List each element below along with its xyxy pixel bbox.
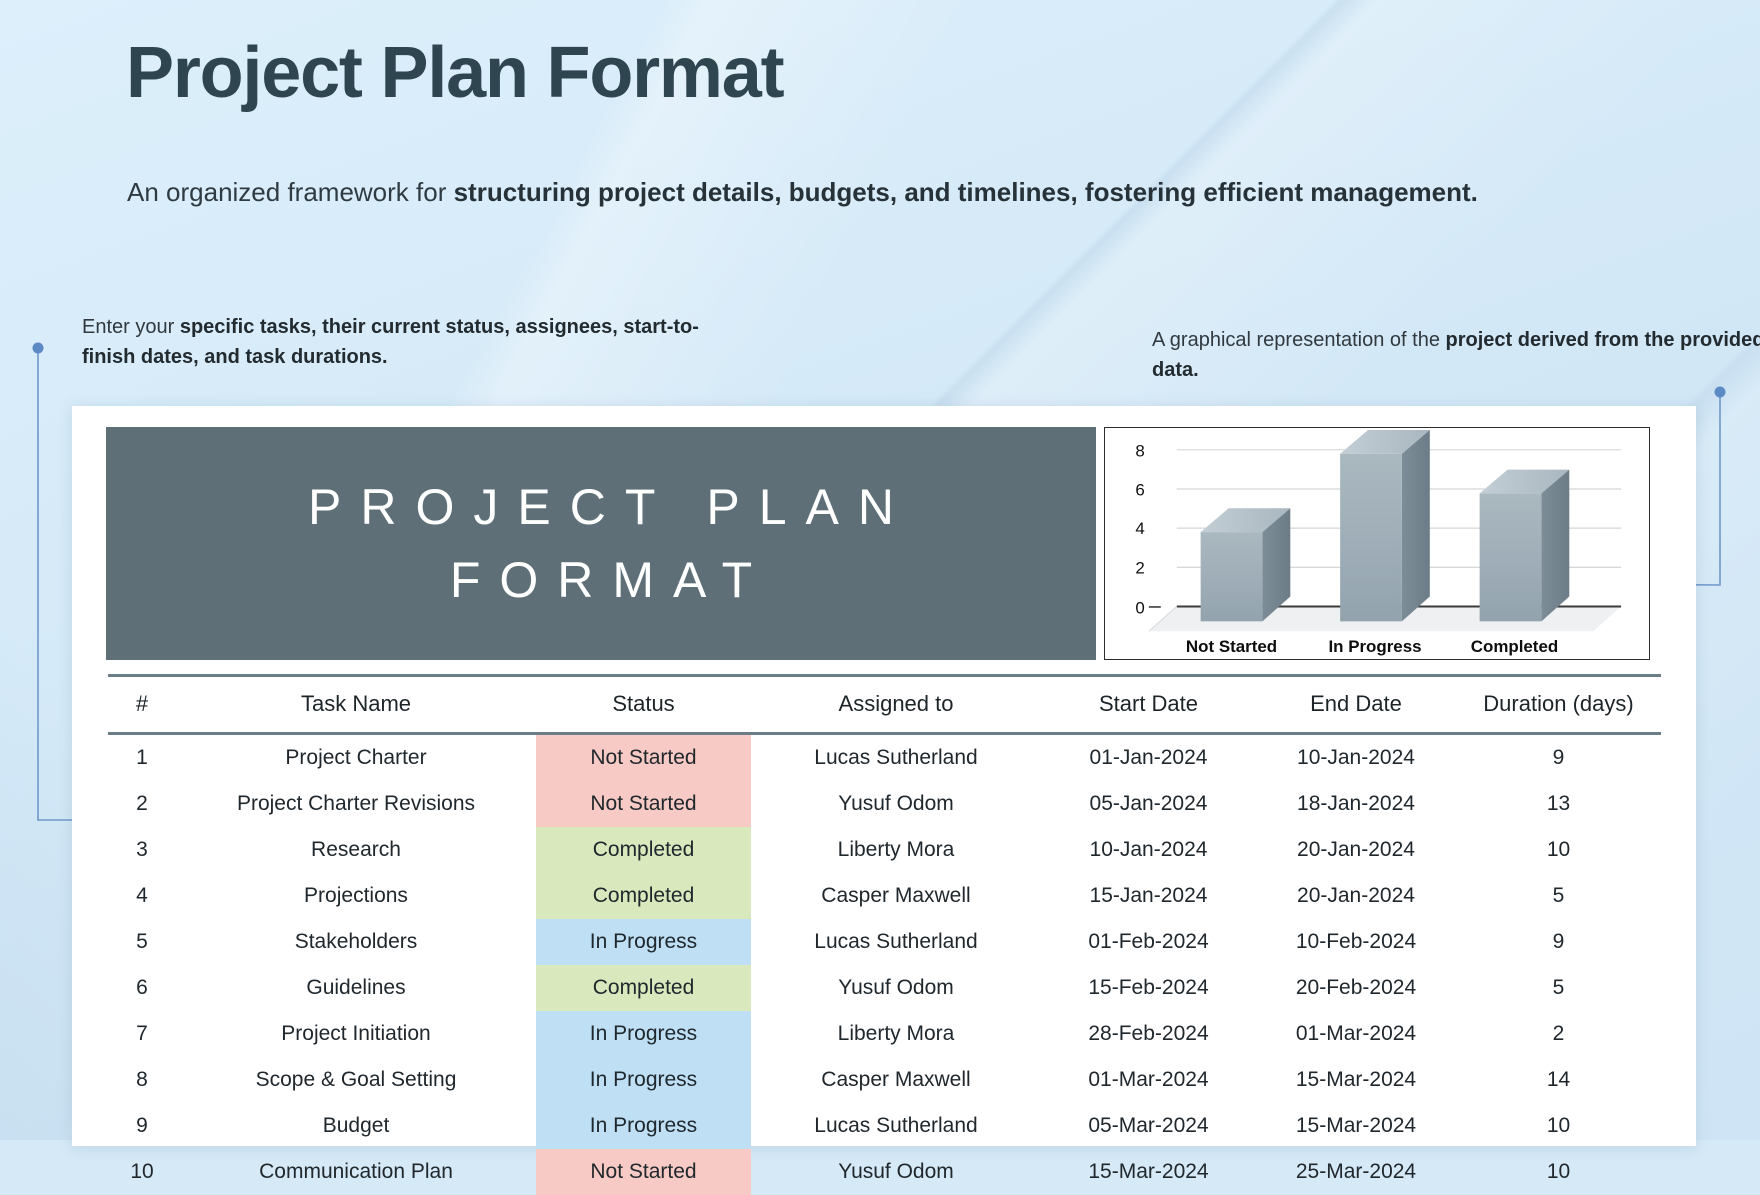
cell-num: 5 — [108, 919, 176, 965]
cell-num: 4 — [108, 873, 176, 919]
cell-start-date: 15-Mar-2024 — [1041, 1149, 1256, 1195]
cell-num: 8 — [108, 1057, 176, 1103]
table-row[interactable]: 6GuidelinesCompletedYusuf Odom15-Feb-202… — [108, 965, 1661, 1011]
cell-assigned-to: Lucas Sutherland — [751, 919, 1041, 965]
cell-status: In Progress — [536, 1057, 751, 1103]
table-row[interactable]: 10Communication PlanNot StartedYusuf Odo… — [108, 1149, 1661, 1195]
chart-inner: 8 6 4 2 0 — [1105, 428, 1649, 659]
cell-task-name: Budget — [176, 1103, 536, 1149]
cell-status: In Progress — [536, 1103, 751, 1149]
table-header-duration: Duration (days) — [1456, 676, 1661, 734]
annotation-left-plain: Enter your — [82, 316, 180, 338]
cell-assigned-to: Yusuf Odom — [751, 781, 1041, 827]
cell-duration: 14 — [1456, 1057, 1661, 1103]
cell-end-date: 15-Mar-2024 — [1256, 1057, 1456, 1103]
cell-num: 1 — [108, 734, 176, 782]
cell-duration: 10 — [1456, 1149, 1661, 1195]
cell-start-date: 10-Jan-2024 — [1041, 827, 1256, 873]
page-subtitle-plain: An organized framework for — [127, 177, 454, 207]
table-row[interactable]: 9BudgetIn ProgressLucas Sutherland05-Mar… — [108, 1103, 1661, 1149]
page-subtitle: An organized framework for structuring p… — [127, 174, 1517, 211]
cell-assigned-to: Casper Maxwell — [751, 873, 1041, 919]
connector-right-dot — [1715, 387, 1726, 398]
banner-line-1: PROJECT PLAN — [289, 471, 913, 544]
chart-ytick-4: 4 — [1135, 519, 1144, 538]
banner-line-2: FORMAT — [431, 544, 771, 617]
cell-start-date: 01-Jan-2024 — [1041, 734, 1256, 782]
cell-task-name: Project Charter Revisions — [176, 781, 536, 827]
table-header-status: Status — [536, 676, 751, 734]
cell-end-date: 20-Jan-2024 — [1256, 827, 1456, 873]
cell-status: Completed — [536, 827, 751, 873]
cell-start-date: 05-Mar-2024 — [1041, 1103, 1256, 1149]
cell-end-date: 18-Jan-2024 — [1256, 781, 1456, 827]
cell-task-name: Guidelines — [176, 965, 536, 1011]
annotation-left: Enter your specific tasks, their current… — [82, 312, 702, 372]
cell-task-name: Stakeholders — [176, 919, 536, 965]
status-bar-chart: 8 6 4 2 0 — [1104, 427, 1650, 660]
chart-ytick-6: 6 — [1135, 480, 1144, 499]
cell-num: 2 — [108, 781, 176, 827]
table-row[interactable]: 4ProjectionsCompletedCasper Maxwell15-Ja… — [108, 873, 1661, 919]
table-row[interactable]: 5StakeholdersIn ProgressLucas Sutherland… — [108, 919, 1661, 965]
cell-status: Not Started — [536, 1149, 751, 1195]
chart-bar-not-started — [1201, 508, 1291, 621]
annotation-right: A graphical representation of the projec… — [1152, 325, 1760, 385]
chart-category-labels: Not Started In Progress Completed — [1186, 637, 1558, 656]
cell-duration: 9 — [1456, 734, 1661, 782]
document-banner: PROJECT PLAN FORMAT — [106, 427, 1096, 660]
chart-bar-completed — [1480, 470, 1570, 622]
table-header-assigned: Assigned to — [751, 676, 1041, 734]
cell-assigned-to: Liberty Mora — [751, 827, 1041, 873]
cell-start-date: 05-Jan-2024 — [1041, 781, 1256, 827]
cell-status: Completed — [536, 965, 751, 1011]
cell-duration: 10 — [1456, 827, 1661, 873]
cell-duration: 5 — [1456, 873, 1661, 919]
cell-assigned-to: Yusuf Odom — [751, 965, 1041, 1011]
chart-ytick-2: 2 — [1135, 559, 1144, 578]
cell-end-date: 15-Mar-2024 — [1256, 1103, 1456, 1149]
cell-assigned-to: Liberty Mora — [751, 1011, 1041, 1057]
chart-xtick-in-progress: In Progress — [1328, 637, 1421, 656]
cell-assigned-to: Yusuf Odom — [751, 1149, 1041, 1195]
cell-task-name: Project Charter — [176, 734, 536, 782]
cell-end-date: 25-Mar-2024 — [1256, 1149, 1456, 1195]
cell-duration: 5 — [1456, 965, 1661, 1011]
chart-xtick-completed: Completed — [1471, 637, 1558, 656]
cell-end-date: 20-Feb-2024 — [1256, 965, 1456, 1011]
cell-task-name: Projections — [176, 873, 536, 919]
card-top-row: PROJECT PLAN FORMAT — [106, 427, 1662, 660]
cell-status: Not Started — [536, 781, 751, 827]
cell-status: In Progress — [536, 1011, 751, 1057]
table-header-end: End Date — [1256, 676, 1456, 734]
cell-end-date: 10-Feb-2024 — [1256, 919, 1456, 965]
cell-num: 7 — [108, 1011, 176, 1057]
table-row[interactable]: 1Project CharterNot StartedLucas Sutherl… — [108, 734, 1661, 782]
cell-task-name: Research — [176, 827, 536, 873]
page-title: Project Plan Format — [126, 36, 783, 112]
cell-num: 10 — [108, 1149, 176, 1195]
cell-assigned-to: Lucas Sutherland — [751, 1103, 1041, 1149]
table-row[interactable]: 8Scope & Goal SettingIn ProgressCasper M… — [108, 1057, 1661, 1103]
cell-num: 3 — [108, 827, 176, 873]
cell-status: In Progress — [536, 919, 751, 965]
table-header-num: # — [108, 676, 176, 734]
table-header-start: Start Date — [1041, 676, 1256, 734]
cell-status: Not Started — [536, 734, 751, 782]
table-row[interactable]: 2Project Charter RevisionsNot StartedYus… — [108, 781, 1661, 827]
table-header: # Task Name Status Assigned to Start Dat… — [108, 676, 1661, 734]
cell-task-name: Communication Plan — [176, 1149, 536, 1195]
cell-assigned-to: Casper Maxwell — [751, 1057, 1041, 1103]
chart-svg: 8 6 4 2 0 — [1105, 428, 1649, 659]
table-row[interactable]: 7Project InitiationIn ProgressLiberty Mo… — [108, 1011, 1661, 1057]
cell-end-date: 01-Mar-2024 — [1256, 1011, 1456, 1057]
cell-start-date: 15-Feb-2024 — [1041, 965, 1256, 1011]
cell-start-date: 01-Mar-2024 — [1041, 1057, 1256, 1103]
cell-num: 6 — [108, 965, 176, 1011]
cell-start-date: 15-Jan-2024 — [1041, 873, 1256, 919]
chart-bar-in-progress — [1340, 430, 1430, 621]
cell-duration: 9 — [1456, 919, 1661, 965]
table-header-row: # Task Name Status Assigned to Start Dat… — [108, 676, 1661, 734]
chart-y-ticks: 8 6 4 2 0 — [1135, 442, 1144, 618]
document-card: PROJECT PLAN FORMAT — [72, 406, 1696, 1146]
cell-num: 9 — [108, 1103, 176, 1149]
table-row[interactable]: 3ResearchCompletedLiberty Mora10-Jan-202… — [108, 827, 1661, 873]
cell-start-date: 28-Feb-2024 — [1041, 1011, 1256, 1057]
project-plan-table: # Task Name Status Assigned to Start Dat… — [108, 674, 1661, 1195]
cell-end-date: 20-Jan-2024 — [1256, 873, 1456, 919]
cell-duration: 2 — [1456, 1011, 1661, 1057]
chart-ytick-8: 8 — [1135, 442, 1144, 461]
cell-task-name: Project Initiation — [176, 1011, 536, 1057]
annotation-right-plain: A graphical representation of the — [1152, 329, 1446, 351]
cell-task-name: Scope & Goal Setting — [176, 1057, 536, 1103]
connector-left-dot — [33, 343, 44, 354]
cell-duration: 10 — [1456, 1103, 1661, 1149]
cell-assigned-to: Lucas Sutherland — [751, 734, 1041, 782]
chart-ytick-0: 0 — [1135, 598, 1144, 617]
cell-start-date: 01-Feb-2024 — [1041, 919, 1256, 965]
chart-xtick-not-started: Not Started — [1186, 637, 1277, 656]
page-subtitle-bold: structuring project details, budgets, an… — [454, 177, 1478, 207]
cell-status: Completed — [536, 873, 751, 919]
cell-duration: 13 — [1456, 781, 1661, 827]
table-header-task: Task Name — [176, 676, 536, 734]
cell-end-date: 10-Jan-2024 — [1256, 734, 1456, 782]
project-plan-table-wrap: # Task Name Status Assigned to Start Dat… — [108, 674, 1661, 1195]
table-body: 1Project CharterNot StartedLucas Sutherl… — [108, 734, 1661, 1195]
